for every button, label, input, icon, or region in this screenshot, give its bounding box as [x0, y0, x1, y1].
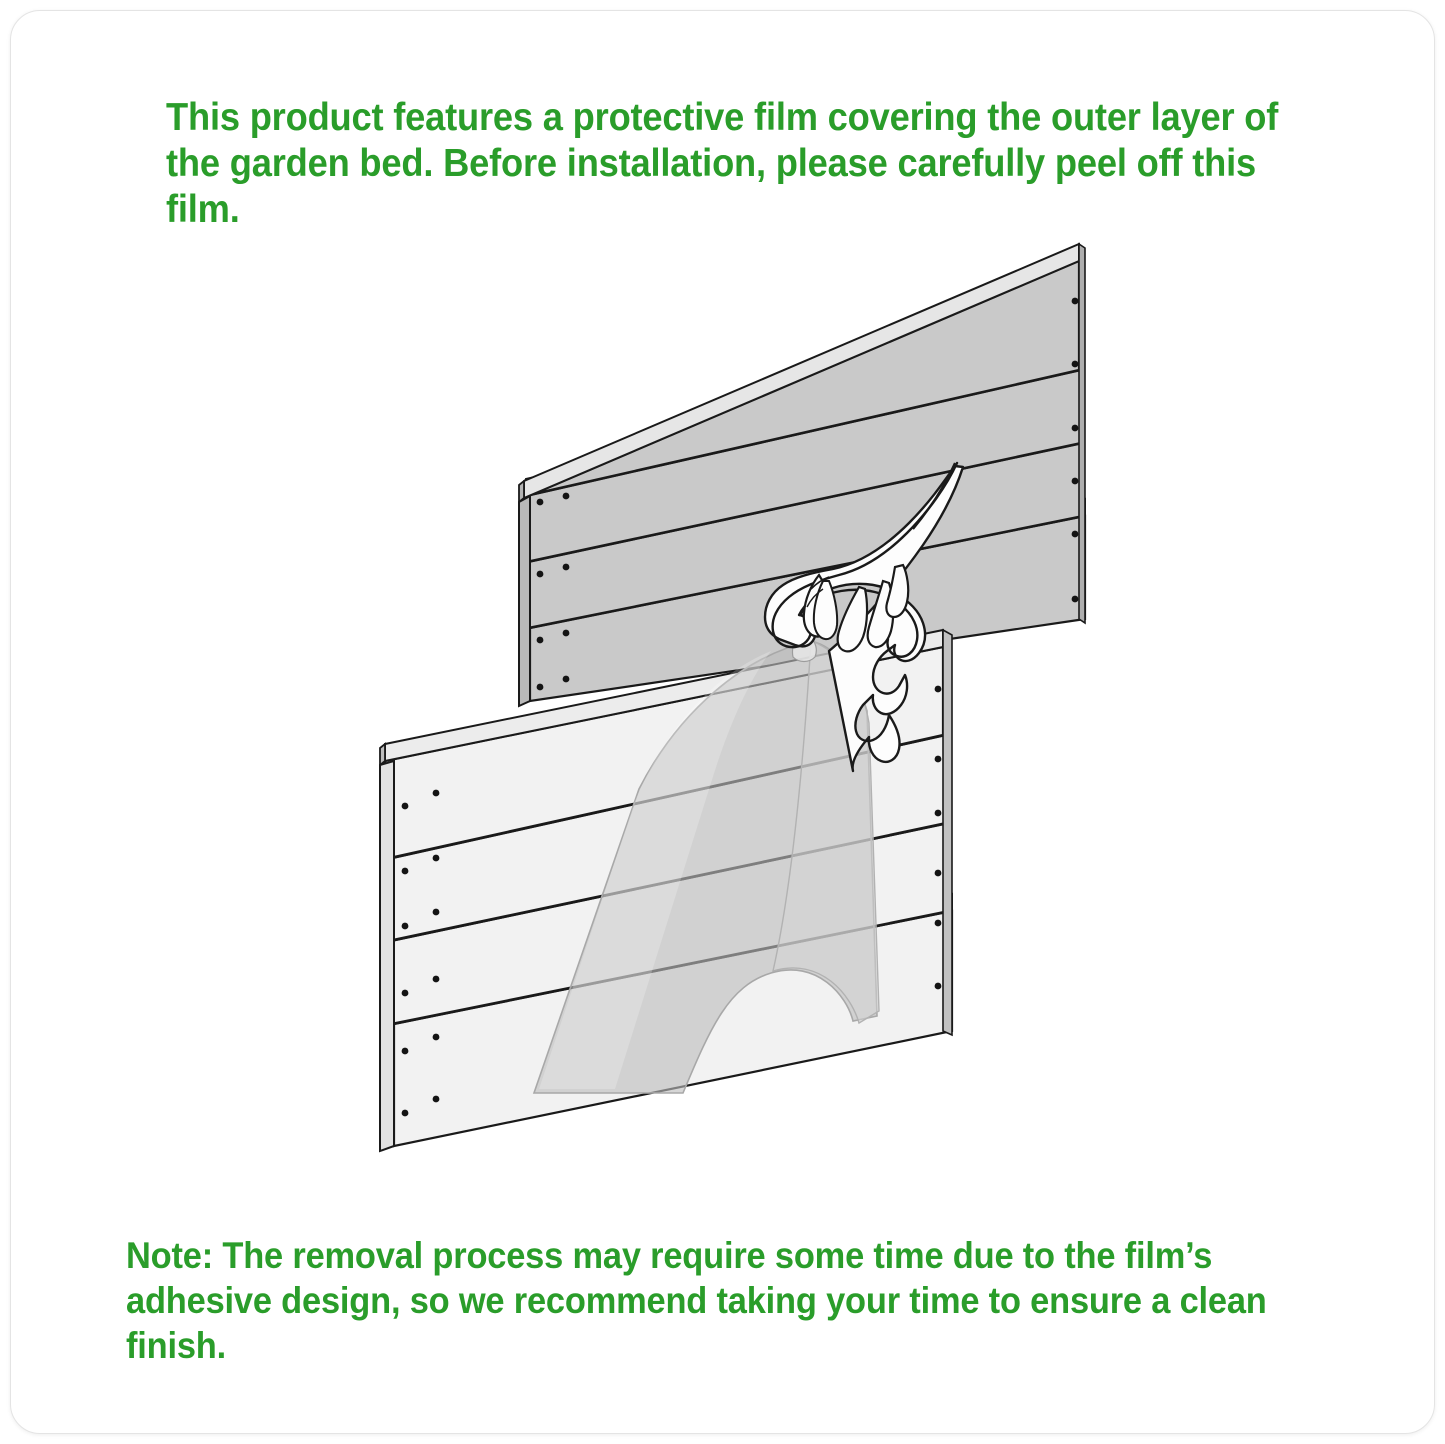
upper-band-4-face: [530, 516, 1085, 701]
film-highlight: [539, 651, 771, 1089]
lower-panel-right-edge: [943, 630, 952, 1035]
film-pinch-point: [792, 634, 816, 662]
film-main-sheet: [534, 641, 877, 1093]
hand-little-finger: [886, 565, 908, 617]
hand-wrist-line: [913, 463, 955, 529]
lower-band-1-left-fold: [380, 744, 385, 765]
lower-band-2-face: [388, 735, 946, 941]
hand-thumb: [804, 575, 832, 637]
lower-panel-band-1: [380, 630, 943, 859]
upper-band-1-face: [524, 261, 1079, 498]
hand-outline-path: [773, 463, 957, 657]
upper-panel-band-1: [519, 244, 1079, 502]
upper-panel-band-3: [528, 426, 1083, 628]
lower-panel-rivet-holes-right: [935, 686, 942, 990]
upper-band-1-top-lip: [524, 244, 1079, 498]
upper-panel-right-edge: [1079, 244, 1085, 623]
lower-band-3-face: [391, 823, 949, 1024]
upper-band-3-face: [528, 443, 1083, 628]
lower-band-3-lip: [391, 806, 949, 941]
hand: [765, 463, 963, 771]
hand-index-finger: [814, 581, 837, 639]
hand-silhouette: [765, 466, 963, 771]
lower-band-1-top-lip: [385, 630, 943, 761]
instruction-card: This product features a protective film …: [10, 10, 1435, 1434]
lower-band-4-face: [394, 911, 952, 1146]
lower-panel-band-4: [394, 894, 952, 1146]
hand-crease-2: [807, 589, 823, 607]
lower-panel-band-2: [388, 718, 946, 941]
lower-band-4-lip: [394, 894, 952, 1024]
lower-band-2-lip: [388, 718, 946, 859]
upper-band-4-lip: [530, 499, 1085, 628]
upper-panel-left-fold: [519, 496, 530, 706]
lower-panel-rivet-holes-left: [402, 790, 440, 1117]
upper-band-2-face: [526, 370, 1081, 562]
hand-crease-1: [811, 577, 829, 589]
upper-panel-rivet-holes-right: [1072, 298, 1079, 603]
upper-panel-band-4: [530, 499, 1085, 701]
lower-band-1-face: [385, 647, 943, 859]
upper-band-2-lip: [526, 353, 1081, 496]
lower-panel-band-3: [391, 806, 949, 1024]
upper-panel-band-2: [526, 353, 1081, 562]
top-instruction-text: This product features a protective film …: [166, 95, 1329, 233]
protective-film: [534, 634, 879, 1093]
hand-middle-finger: [838, 587, 867, 651]
upper-band-1-left-fold: [519, 481, 524, 502]
upper-band-3-lip: [528, 426, 1083, 562]
film-right-flap: [773, 641, 879, 1023]
bottom-note-text: Note: The removal process may require so…: [126, 1233, 1326, 1368]
hand-ring-finger: [868, 581, 894, 647]
upper-panel: [519, 244, 1085, 706]
lower-panel: [380, 630, 952, 1151]
upper-panel-rivet-holes-left: [537, 493, 570, 691]
lower-panel-left-fold: [380, 761, 394, 1151]
